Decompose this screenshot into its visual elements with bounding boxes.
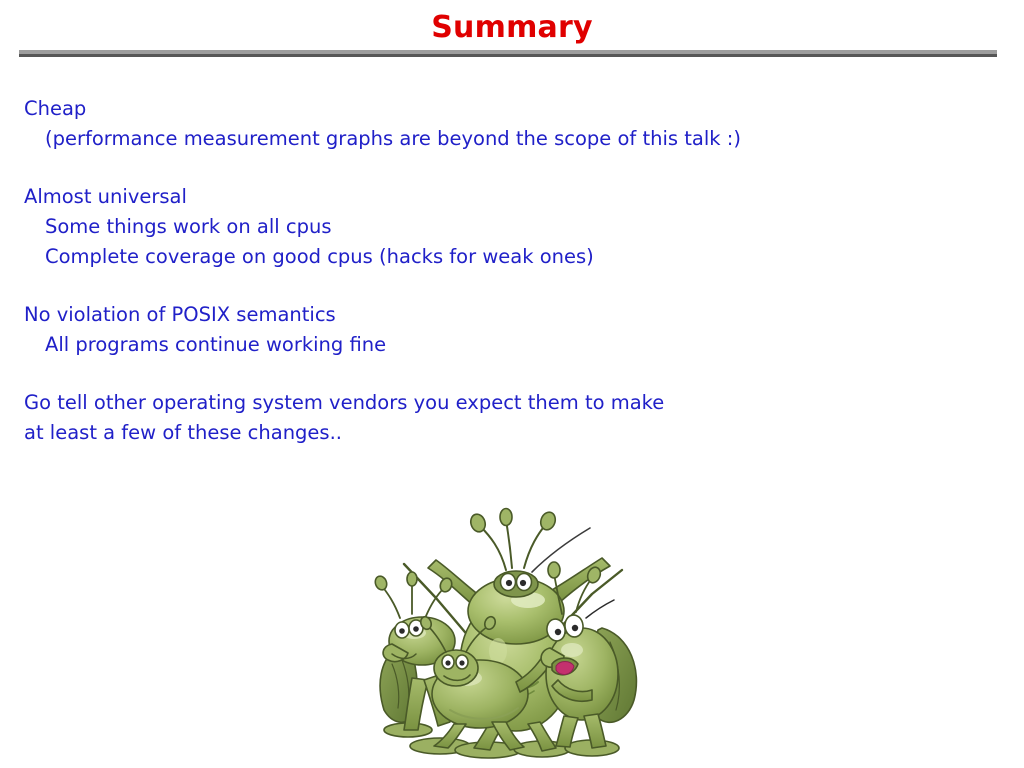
page-title: Summary: [0, 10, 1024, 46]
body-line: at least a few of these changes..: [24, 418, 984, 448]
body-subline: Some things work on all cpus: [45, 212, 984, 242]
body-paragraph: Cheap(performance measurement graphs are…: [24, 94, 984, 154]
body-subline: (performance measurement graphs are beyo…: [45, 124, 984, 154]
three-cartoon-bugs-illustration: [340, 478, 684, 766]
bug-center-antennae: [469, 509, 590, 573]
bug-illustration-group: [373, 509, 636, 759]
title-divider-shadow: [19, 54, 997, 57]
body-line: Cheap: [24, 94, 984, 124]
body-line: Go tell other operating system vendors y…: [24, 388, 984, 418]
body-paragraph: Go tell other operating system vendors y…: [24, 388, 984, 448]
body-line: Almost universal: [24, 182, 984, 212]
body-subline: All programs continue working fine: [45, 330, 984, 360]
body-paragraph: No violation of POSIX semanticsAll progr…: [24, 300, 984, 360]
slide-body: Cheap(performance measurement graphs are…: [24, 94, 984, 448]
body-line: No violation of POSIX semantics: [24, 300, 984, 330]
body-subline: Complete coverage on good cpus (hacks fo…: [45, 242, 984, 272]
body-paragraph: Almost universalSome things work on all …: [24, 182, 984, 272]
